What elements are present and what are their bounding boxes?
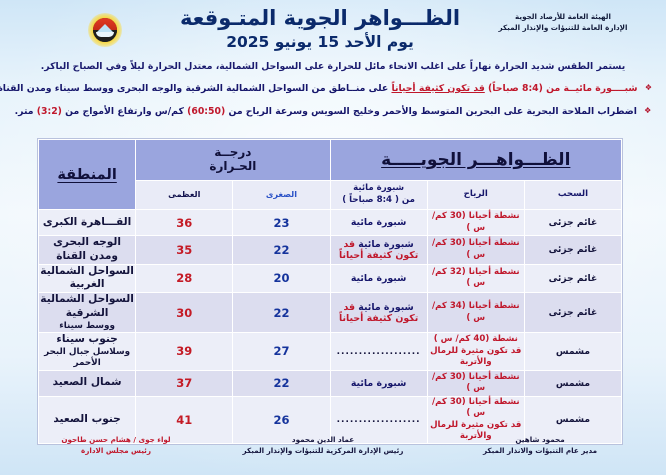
table-row: غائم جزئىنشطة أحيانا (32 كم/ س )شبورة ما… bbox=[39, 264, 622, 293]
signature-role: رئيس الإدارة المركزية للتنبؤات والإنذار … bbox=[223, 446, 423, 457]
signature-name: محمود شاهين bbox=[440, 435, 640, 446]
cell-temp-max: 37 bbox=[136, 370, 233, 396]
cell-temp-max: 36 bbox=[136, 210, 233, 236]
bullet-icon: ❖ bbox=[645, 83, 652, 92]
cell-temp-max: 35 bbox=[136, 236, 233, 265]
cell-wind: نشطة (40 كم/ س )قد تكون مثيرة للرمال وال… bbox=[427, 333, 524, 371]
header-temperature-line-2: الحـرارة bbox=[209, 159, 256, 173]
note-mist-part1: شبــــورة مائيــة من (8:4 صباحاً) bbox=[488, 83, 638, 94]
table-body: غائم جزئىنشطة أحيانا (30 كم/ س )شبورة ما… bbox=[39, 210, 622, 444]
wind-line-1: نشطة أحيانا (32 كم/ س ) bbox=[432, 267, 520, 289]
cell-mist: شبورة مائية bbox=[330, 264, 427, 293]
poster-header: الهيئة العامة للأرصاد الجوية الإدارة الع… bbox=[0, 0, 666, 58]
note-marine-wind-speed: (60:50) bbox=[187, 106, 225, 117]
mist-text: شبورة مائية bbox=[351, 217, 406, 228]
bullet-icon: ❖ bbox=[644, 106, 651, 115]
header-mist: شبورة مائية من ( 8:4 صباحاً ) bbox=[330, 181, 427, 210]
mist-text: شبورة مائية bbox=[358, 239, 413, 250]
cell-mist: شبورة مائية قد تكون كثيفة أحياناً bbox=[330, 236, 427, 265]
region-subtitle: ووسط سيناء bbox=[39, 321, 135, 332]
signatures-footer: محمود شاهين مدير عام التنبؤات والانذار ا… bbox=[0, 435, 666, 457]
header-cloud: السحب bbox=[524, 181, 621, 210]
cell-temp-min: 22 bbox=[233, 293, 330, 333]
cell-region: جنوب سيناءوسلاسل جبال البحر الأحمر bbox=[39, 333, 136, 371]
logo-disc bbox=[93, 18, 117, 42]
forecast-notes: يستمر الطقس شديد الحرارة نهاراً على اغلب… bbox=[0, 60, 666, 119]
wind-line-2: قد تكون مثيرة للرمال والأتربة bbox=[430, 346, 521, 368]
forecast-table-container: الظـــواهـــر الجويـــــة درجــة الحـرار… bbox=[38, 139, 622, 444]
wind-line-1: نشطة أحيانا (30 كم/ س ) bbox=[432, 238, 520, 260]
cell-cloud: غائم جزئى bbox=[524, 210, 621, 236]
cell-region: الوجه البحرى ومدن القناة bbox=[39, 236, 136, 265]
cell-mist: شبورة مائية قد تكون كثيفة أحياناً bbox=[330, 293, 427, 333]
header-mist-line-2: من ( 8:4 صباحاً ) bbox=[342, 195, 415, 205]
wind-line-1: نشطة أحيانا (34 كم/ س ) bbox=[432, 301, 520, 323]
header-temp-min: الصغرى bbox=[233, 181, 330, 210]
cell-cloud: مشمس bbox=[524, 333, 621, 371]
wind-line-1: نشطة أحيانا (30 كم/ س ) bbox=[432, 211, 520, 233]
cell-temp-max: 30 bbox=[136, 293, 233, 333]
wind-line-1: نشطة أحيانا (30 كم/ س ) bbox=[432, 397, 520, 419]
cell-mist: شبورة مائية bbox=[330, 370, 427, 396]
signature-name: عماد الدين محمود bbox=[223, 435, 423, 446]
signature-block-2: عماد الدين محمود رئيس الإدارة المركزية ل… bbox=[223, 435, 423, 457]
note-mist: ❖ شبــــورة مائيــة من (8:4 صباحاً) قد ت… bbox=[14, 82, 652, 96]
note-marine-part1: اضطراب الملاحة البحرية على البحرين المتو… bbox=[228, 106, 636, 117]
weather-forecast-poster: الهيئة العامة للأرصاد الجوية الإدارة الع… bbox=[0, 0, 666, 475]
region-name: الوجه البحرى ومدن القناة bbox=[53, 236, 121, 262]
forecast-date: يوم الأحد 15 يونيو 2025 bbox=[170, 33, 470, 51]
note-mist-part3: على منــاطق من السواحل الشمالية الشرقية … bbox=[0, 83, 388, 94]
page-title: الظـــواهر الجوية المتـوقعة bbox=[170, 6, 470, 30]
cell-cloud: غائم جزئى bbox=[524, 264, 621, 293]
region-name: شمال الصعيد bbox=[53, 376, 122, 388]
cell-temp-min: 20 bbox=[233, 264, 330, 293]
note-marine-part3: متر. bbox=[15, 106, 34, 117]
table-row: مشمسنشطة (40 كم/ س )قد تكون مثيرة للرمال… bbox=[39, 333, 622, 371]
signature-block-3: محمود شاهين مدير عام التنبؤات والانذار ا… bbox=[440, 435, 640, 457]
cell-region: شمال الصعيد bbox=[39, 370, 136, 396]
cell-mist: ................... bbox=[330, 333, 427, 371]
region-name: جنوب سيناء bbox=[56, 333, 117, 345]
cell-temp-max: 28 bbox=[136, 264, 233, 293]
table-header-row-top: الظـــواهـــر الجويـــــة درجــة الحـرار… bbox=[39, 140, 622, 181]
region-name: القـــاهرة الكبرى bbox=[43, 216, 131, 228]
cell-temp-min: 22 bbox=[233, 236, 330, 265]
cell-cloud: مشمس bbox=[524, 370, 621, 396]
wind-line-1: نشطة أحيانا (30 كم/ س ) bbox=[432, 372, 520, 394]
header-temp-max: العظمى bbox=[136, 181, 233, 210]
mist-text: ................... bbox=[337, 347, 421, 357]
cell-wind: نشطة أحيانا (30 كم/ س ) bbox=[427, 236, 524, 265]
region-subtitle: وسلاسل جبال البحر الأحمر bbox=[39, 347, 135, 370]
note-general-weather: يستمر الطقس شديد الحرارة نهاراً على اغلب… bbox=[14, 60, 652, 74]
cell-mist: شبورة مائية bbox=[330, 210, 427, 236]
signature-role: مدير عام التنبؤات والانذار المبكر bbox=[440, 446, 640, 457]
cell-wind: نشطة أحيانا (32 كم/ س ) bbox=[427, 264, 524, 293]
mist-text: شبورة مائية bbox=[351, 273, 406, 284]
cell-temp-min: 27 bbox=[233, 333, 330, 371]
table-row: غائم جزئىنشطة أحيانا (34 كم/ س )شبورة ما… bbox=[39, 293, 622, 333]
header-phenomena: الظـــواهـــر الجويـــــة bbox=[330, 140, 621, 181]
cell-wind: نشطة أحيانا (30 كم/ س ) bbox=[427, 370, 524, 396]
cell-temp-min: 23 bbox=[233, 210, 330, 236]
signature-role: رئيس مجلس الادارة bbox=[26, 446, 206, 457]
mist-text: شبورة مائية bbox=[358, 302, 413, 313]
cell-region: القـــاهرة الكبرى bbox=[39, 210, 136, 236]
note-marine: ❖ اضطراب الملاحة البحرية على البحرين الم… bbox=[14, 105, 652, 119]
header-mist-line-1: شبورة مائية bbox=[353, 183, 404, 193]
table-head: الظـــواهـــر الجويـــــة درجــة الحـرار… bbox=[39, 140, 622, 210]
forecast-table: الظـــواهـــر الجويـــــة درجــة الحـرار… bbox=[38, 139, 622, 444]
header-wind: الرياح bbox=[427, 181, 524, 210]
header-region: المنطقة bbox=[39, 140, 136, 210]
cell-wind: نشطة أحيانا (34 كم/ س ) bbox=[427, 293, 524, 333]
table-row: غائم جزئىنشطة أحيانا (30 كم/ س )شبورة ما… bbox=[39, 210, 622, 236]
cell-temp-min: 22 bbox=[233, 370, 330, 396]
region-name: السواحل الشمالية الغربية bbox=[40, 265, 134, 291]
logo-wave-shape bbox=[96, 32, 114, 37]
signature-block-1: لواء جوى / هشام حسن طاحون رئيس مجلس الاد… bbox=[26, 435, 206, 457]
header-temperature-line-1: درجــة bbox=[214, 145, 251, 159]
region-name: جنوب الصعيد bbox=[53, 413, 120, 425]
region-name: السواحل الشمالية الشرقية bbox=[40, 293, 134, 319]
wind-line-1: نشطة (40 كم/ س ) bbox=[434, 334, 518, 344]
table-row: مشمسنشطة أحيانا (30 كم/ س )شبورة مائية22… bbox=[39, 370, 622, 396]
note-mist-part2: قد تكون كثيفة أحياناً bbox=[391, 83, 484, 94]
table-row: غائم جزئىنشطة أحيانا (30 كم/ س )شبورة ما… bbox=[39, 236, 622, 265]
cell-temp-max: 39 bbox=[136, 333, 233, 371]
organization-name: الهيئة العامة للأرصاد الجوية الإدارة الع… bbox=[468, 11, 658, 33]
header-temperature: درجــة الحـرارة bbox=[136, 140, 330, 181]
cell-region: السواحل الشمالية الغربية bbox=[39, 264, 136, 293]
egypt-meteorological-authority-logo-icon bbox=[86, 13, 126, 49]
cell-cloud: غائم جزئى bbox=[524, 293, 621, 333]
note-marine-wave-height: (3:2) bbox=[37, 106, 62, 117]
cell-cloud: غائم جزئى bbox=[524, 236, 621, 265]
org-line-2: الإدارة العامة للتنبؤات والإنذار المبكر bbox=[468, 22, 658, 33]
org-line-1: الهيئة العامة للأرصاد الجوية bbox=[468, 11, 658, 22]
mist-text: ................... bbox=[337, 415, 421, 425]
note-marine-part2: كم/س وارتفاع الأمواج من bbox=[65, 106, 184, 117]
cell-wind: نشطة أحيانا (30 كم/ س ) bbox=[427, 210, 524, 236]
cell-region: السواحل الشمالية الشرقيةووسط سيناء bbox=[39, 293, 136, 333]
mist-text: شبورة مائية bbox=[351, 378, 406, 389]
signature-name: لواء جوى / هشام حسن طاحون bbox=[26, 435, 206, 446]
